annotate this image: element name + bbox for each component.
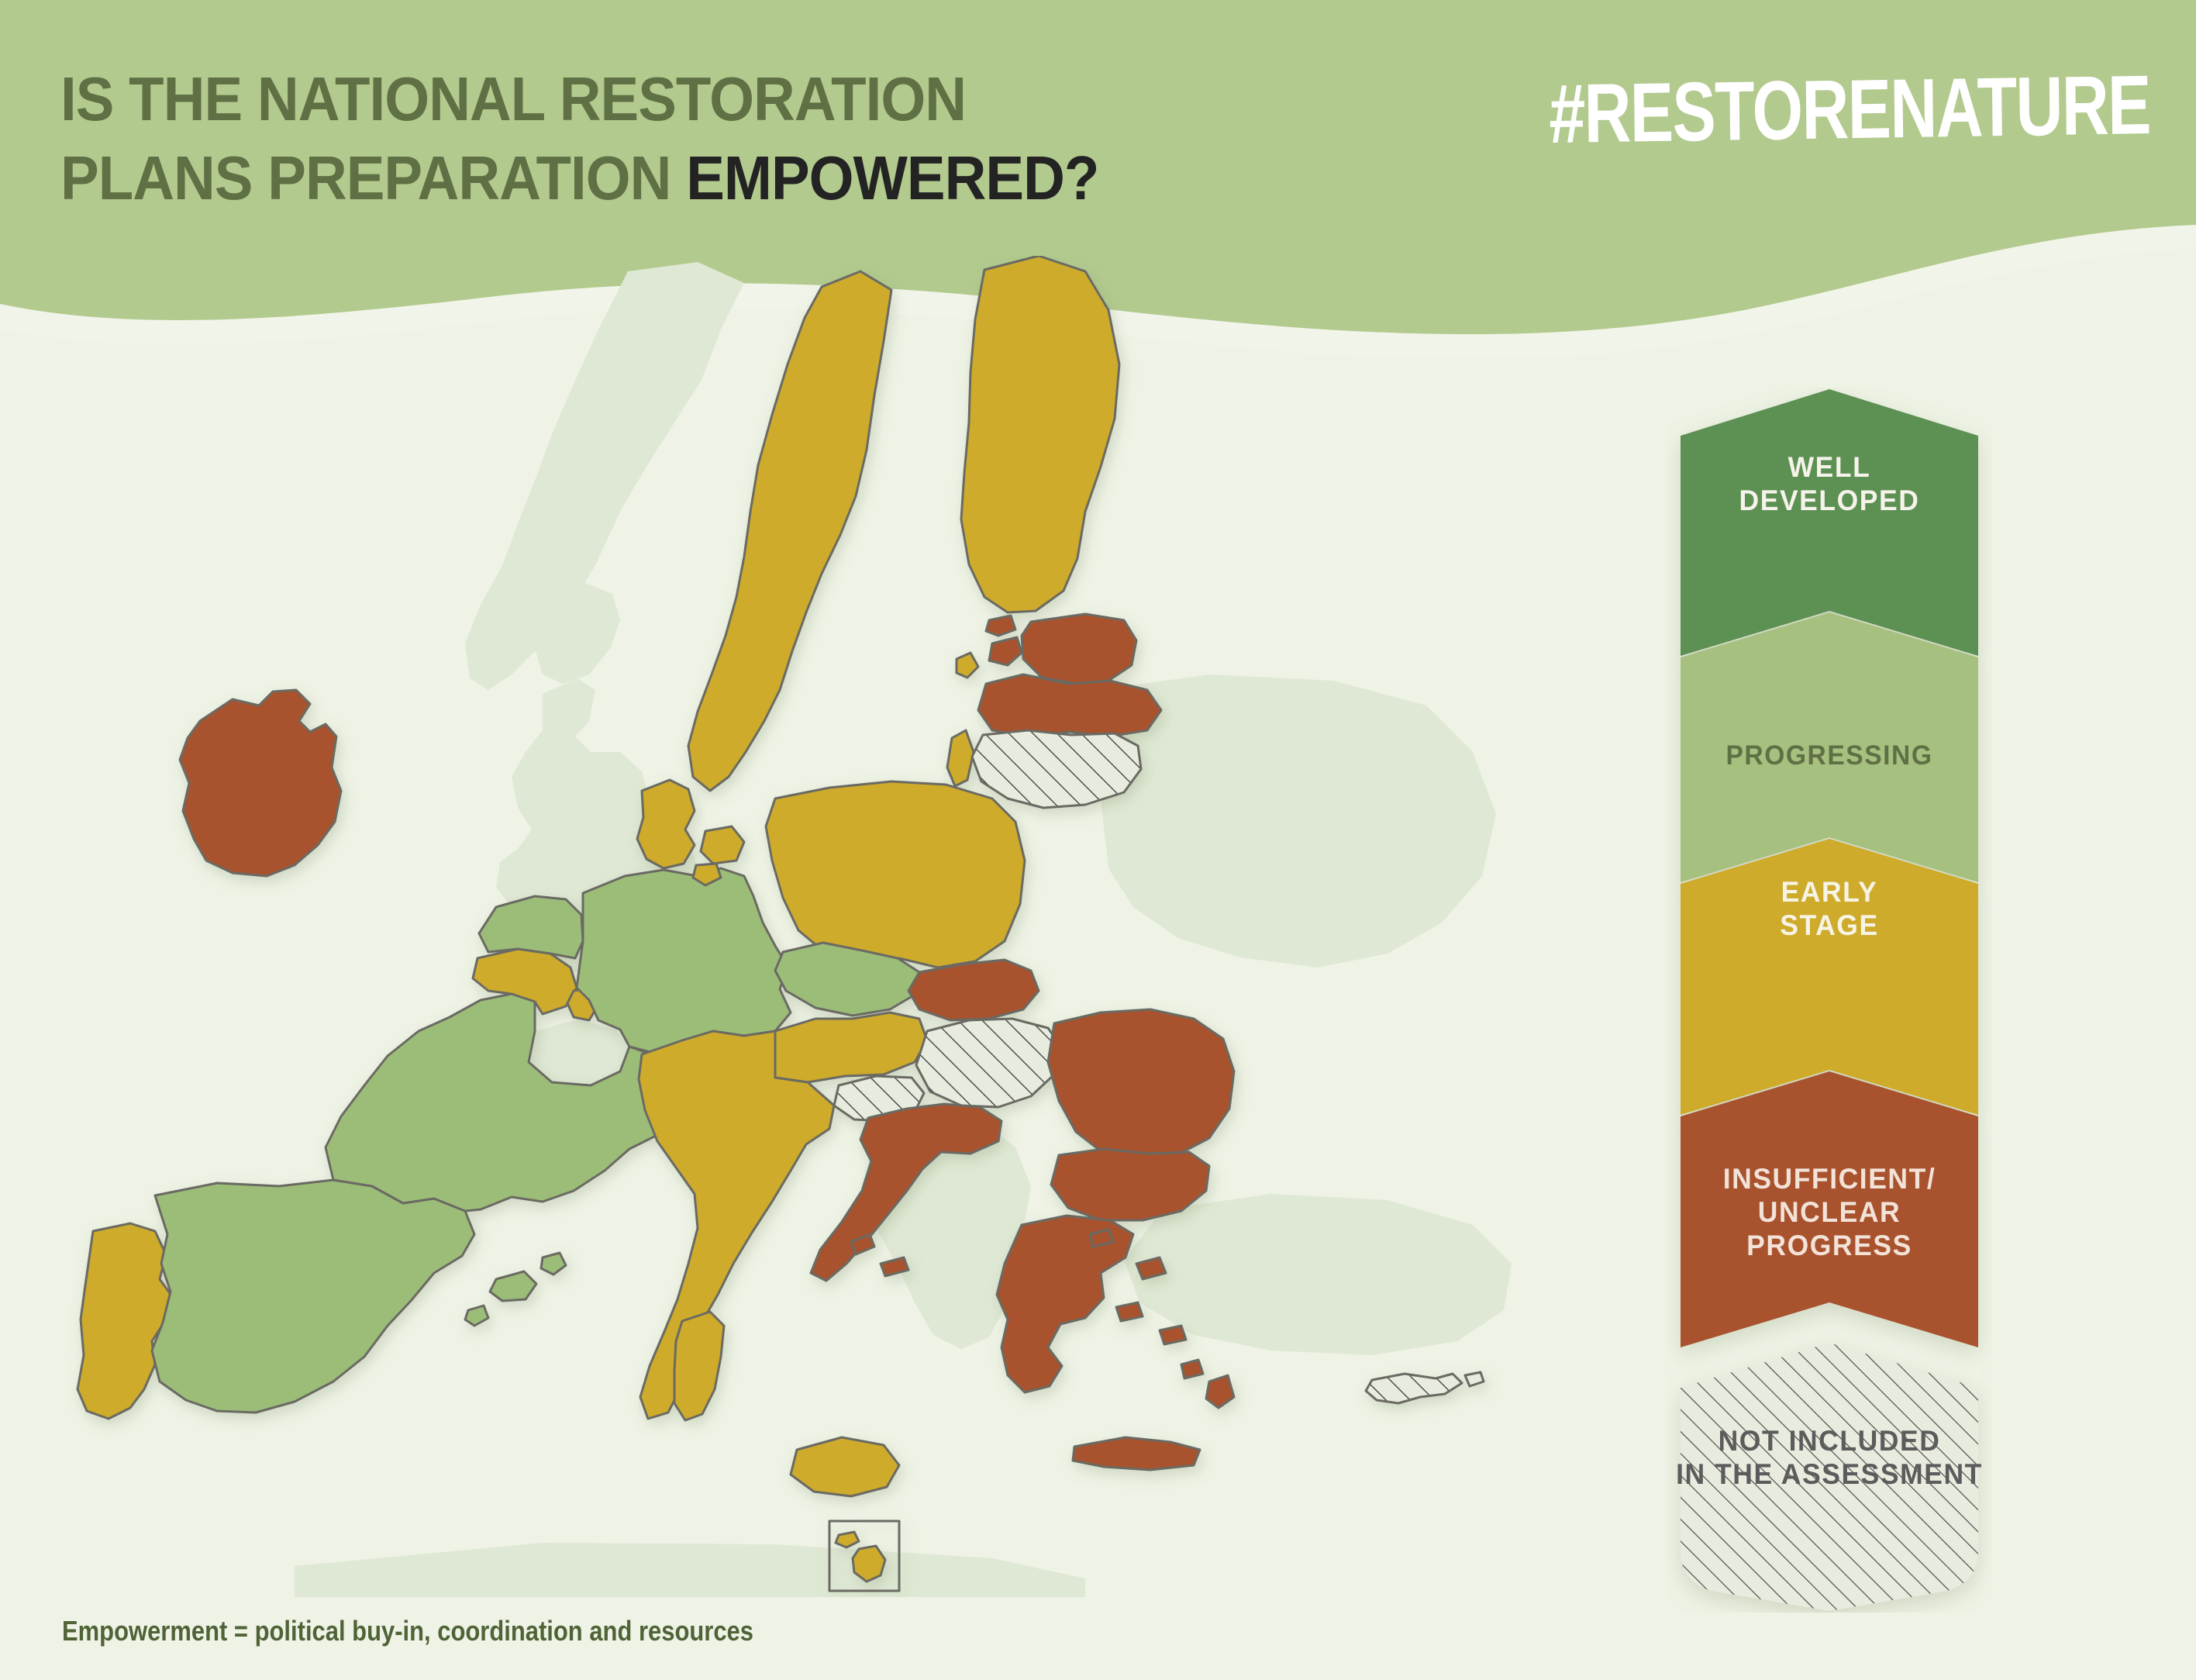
island-oland[interactable]	[957, 653, 978, 678]
europe-choropleth-map	[0, 256, 1628, 1597]
island-balearics[interactable]	[490, 1271, 536, 1301]
island-aegean-2[interactable]	[1116, 1302, 1143, 1321]
title-line-2-plain: PLANS PREPARATION	[60, 143, 686, 212]
country-eastern-neighbours	[1099, 674, 1496, 968]
country-ireland[interactable]	[180, 690, 341, 876]
country-sweden[interactable]	[688, 271, 891, 791]
country-finland[interactable]	[961, 256, 1119, 612]
island-rhodes[interactable]	[1206, 1375, 1234, 1408]
legend-label-not-included: NOT INCLUDED IN THE ASSESSMENT	[1673, 1425, 1985, 1492]
legend-label-well-developed: WELL DEVELOPED	[1673, 451, 1985, 518]
country-cyprus[interactable]	[1366, 1374, 1462, 1403]
legend-label-early-stage: EARLY STAGE	[1673, 876, 1985, 943]
island-aegean-5[interactable]	[1181, 1360, 1203, 1378]
country-slovakia[interactable]	[908, 960, 1039, 1020]
legend-label-insufficient: INSUFFICIENT/ UNCLEAR PROGRESS	[1673, 1163, 1985, 1263]
campaign-hashtag: #RESTORENATURE	[1549, 56, 2151, 162]
island-sicily[interactable]	[791, 1437, 899, 1496]
country-romania[interactable]	[1048, 1009, 1234, 1161]
island-crete[interactable]	[1073, 1437, 1200, 1470]
page-title: IS THE NATIONAL RESTORATIONPLANS PREPARA…	[60, 68, 1098, 209]
country-estonia[interactable]	[1022, 614, 1136, 684]
country-italy[interactable]	[639, 1031, 834, 1419]
island-hiiumaa[interactable]	[986, 616, 1015, 636]
country-portugal[interactable]	[78, 1223, 172, 1419]
island-cyprus-tip[interactable]	[1465, 1372, 1484, 1386]
country-poland[interactable]	[766, 781, 1025, 968]
legend-panel: WELL DEVELOPED PROGRESSING EARLY STAGE I…	[1667, 388, 1992, 1613]
island-aegean-3[interactable]	[1160, 1326, 1186, 1344]
country-spain[interactable]	[152, 1180, 474, 1413]
country-austria[interactable]	[761, 1012, 927, 1082]
legend-label-progressing: PROGRESSING	[1673, 740, 1985, 772]
country-latvia[interactable]	[978, 674, 1161, 737]
country-denmark[interactable]	[637, 780, 695, 868]
title-emphasis: EMPOWERED?	[686, 143, 1098, 212]
title-line-1: IS THE NATIONAL RESTORATION	[60, 64, 966, 133]
footnote-text: Empowerment = political buy-in, coordina…	[62, 1615, 753, 1647]
island-gozo[interactable]	[836, 1532, 859, 1547]
country-uk-scotland	[533, 580, 620, 684]
country-north-africa	[295, 1543, 1085, 1597]
country-netherlands[interactable]	[479, 896, 583, 958]
island-sardinia[interactable]	[674, 1312, 724, 1420]
country-hungary[interactable]	[916, 1019, 1062, 1107]
country-germany[interactable]	[577, 868, 791, 1054]
country-malta[interactable]	[853, 1546, 885, 1582]
island-ibiza[interactable]	[465, 1306, 488, 1326]
infographic-root: IS THE NATIONAL RESTORATIONPLANS PREPARA…	[0, 0, 2196, 1680]
island-balearics-minor[interactable]	[541, 1253, 566, 1275]
island-saaremaa[interactable]	[989, 637, 1022, 665]
country-denmark-zealand[interactable]	[701, 826, 744, 864]
island-gotland[interactable]	[947, 730, 974, 786]
